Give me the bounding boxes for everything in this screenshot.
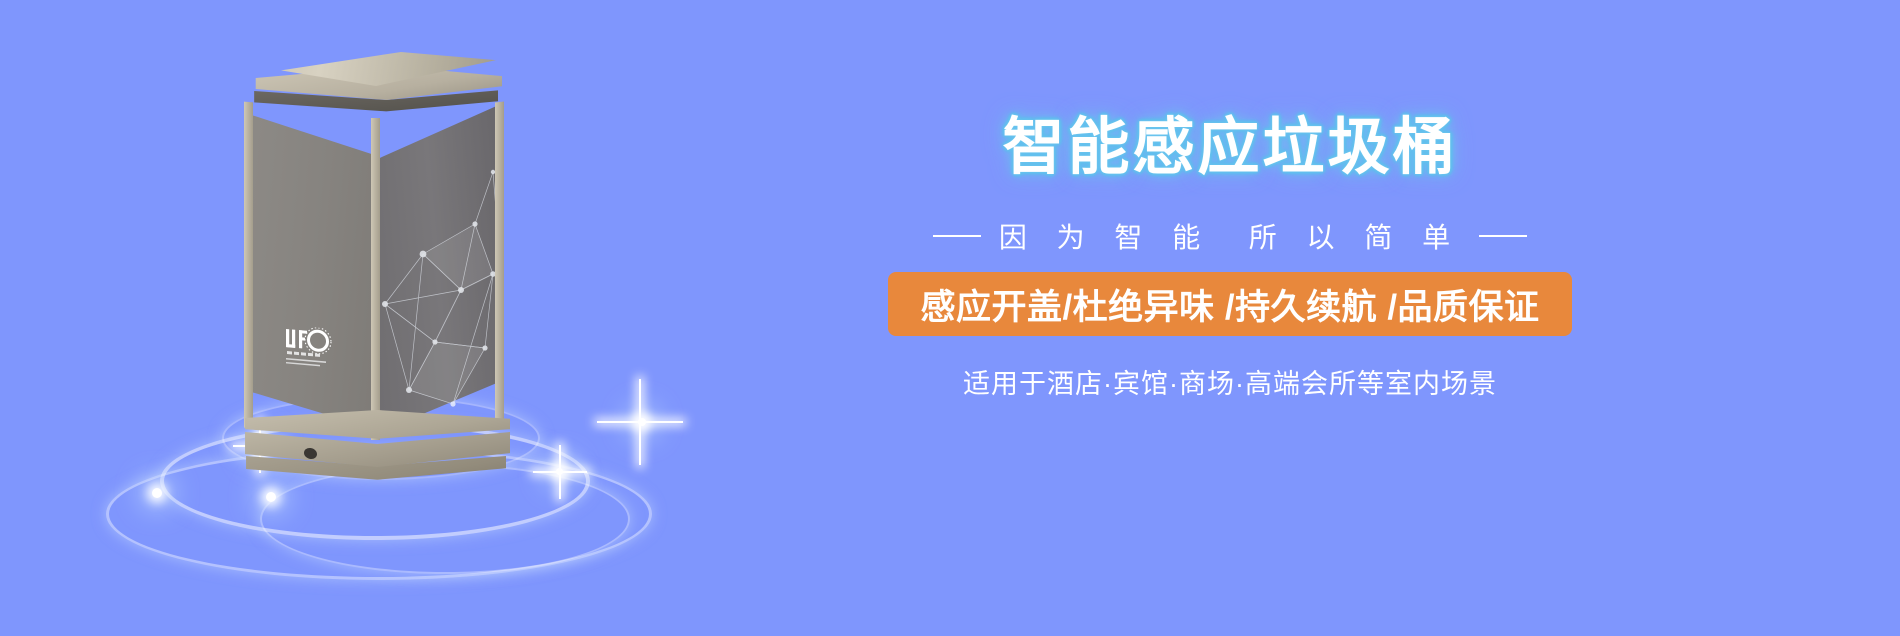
feature-highlight-bar: 感应开盖/杜绝异味 /持久续航 /品质保证 [888,272,1572,336]
bin-face-left [246,100,378,430]
sparkle-icon [152,488,162,498]
banner-headline: 智能感应垃圾桶 [860,117,1600,179]
ufo-brand-logo [284,325,358,377]
bin-corner-front [371,118,380,440]
product-illustration [0,0,760,636]
smart-trash-bin-product [232,52,512,452]
tagline-text: 因 为 智 能 所 以 简 单 [999,216,1461,256]
sparkle-icon [266,492,276,502]
banner-copy-column: 智能感应垃圾桶 因 为 智 能 所 以 简 单 感应开盖/杜绝异味 /持久续航 … [860,0,1900,636]
tagline-rule-left [933,235,981,237]
use-case-text: 适用于酒店·宾馆·商场·高端会所等室内场景 [860,362,1600,401]
ripple-ring-lower [260,464,630,574]
sparkle-icon [638,418,646,426]
network-pattern-graphic [375,104,501,436]
tagline-rule-right [1479,235,1527,237]
banner-tagline: 因 为 智 能 所 以 简 单 [860,216,1600,256]
bin-corner-left [244,102,253,429]
promo-banner: 智能感应垃圾桶 因 为 智 能 所 以 简 单 感应开盖/杜绝异味 /持久续航 … [0,0,1900,636]
bin-corner-right [495,102,504,423]
sparkle-icon [556,468,563,475]
